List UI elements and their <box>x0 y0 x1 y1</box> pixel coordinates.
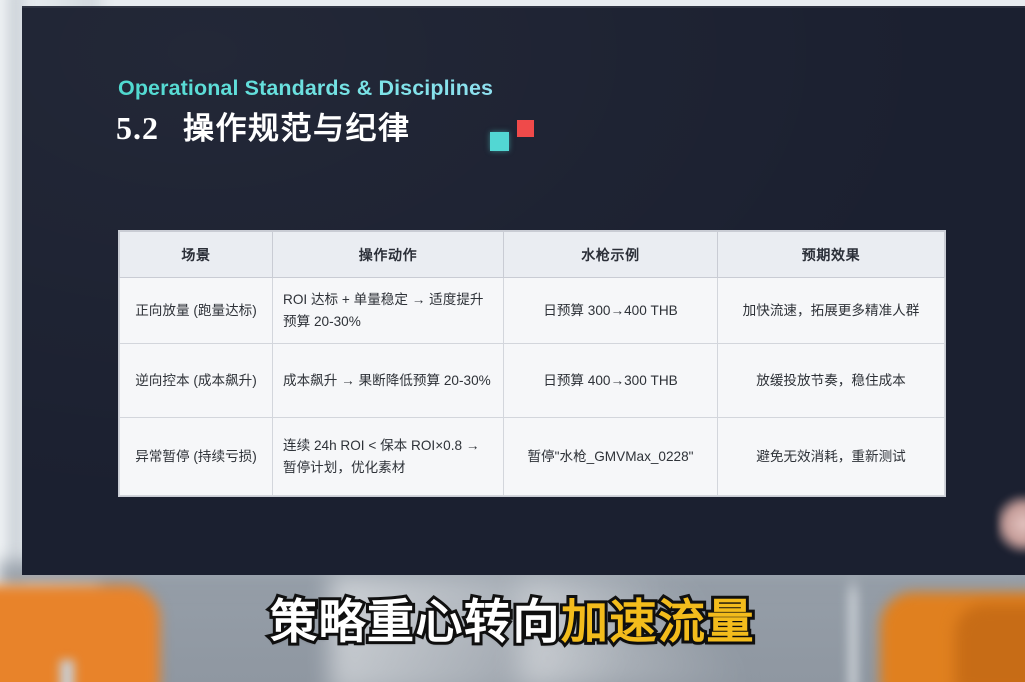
caption-highlight-text: 加速流量 <box>561 598 755 645</box>
operations-table: 场景 操作动作 水枪示例 预期效果 正向放量 (跑量达标) ROI 达标 + 单… <box>119 231 945 496</box>
cell-effect: 避免无效消耗，重新测试 <box>718 418 945 496</box>
slide-top-edge <box>22 6 1025 8</box>
decorative-square-red-icon <box>517 120 534 137</box>
column-header-action: 操作动作 <box>273 232 504 278</box>
section-number: 5.2 <box>116 112 159 144</box>
column-header-example: 水枪示例 <box>504 232 718 278</box>
caption-white-text: 策略重心转向 <box>270 598 561 645</box>
slide-eyebrow-title: Operational Standards & Disciplines <box>118 76 493 101</box>
video-subtitle-caption: 策略重心转向加速流量 <box>0 598 1025 645</box>
cell-action: 连续 24h ROI < 保本 ROI×0.8 → 暂停计划，优化素材 <box>273 418 504 496</box>
cell-scene: 正向放量 (跑量达标) <box>120 278 273 344</box>
cell-example: 日预算 300→400 THB <box>504 278 718 344</box>
column-header-scene: 场景 <box>120 232 273 278</box>
presentation-slide: Operational Standards & Disciplines 5.2 … <box>22 6 1025 575</box>
cell-scene: 逆向控本 (成本飙升) <box>120 344 273 418</box>
table-row: 异常暂停 (持续亏损) 连续 24h ROI < 保本 ROI×0.8 → 暂停… <box>120 418 945 496</box>
chair-leg-left <box>60 660 74 682</box>
table-row: 正向放量 (跑量达标) ROI 达标 + 单量稳定 → 适度提升预算 20-30… <box>120 278 945 344</box>
cell-effect: 加快流速，拓展更多精准人群 <box>718 278 945 344</box>
cell-action: ROI 达标 + 单量稳定 → 适度提升预算 20-30% <box>273 278 504 344</box>
cell-example: 日预算 400→300 THB <box>504 344 718 418</box>
cell-action: 成本飙升 → 果断降低预算 20-30% <box>273 344 504 418</box>
cell-example: 暂停"水枪_GMVMax_0228" <box>504 418 718 496</box>
column-header-effect: 预期效果 <box>718 232 945 278</box>
decorative-square-cyan-icon <box>490 132 509 151</box>
cell-effect: 放缓投放节奏，稳住成本 <box>718 344 945 418</box>
page-title: 操作规范与纪律 <box>183 113 411 144</box>
table-header-row: 场景 操作动作 水枪示例 预期效果 <box>120 232 945 278</box>
presenter-hand <box>997 494 1025 554</box>
slide-title-row: 5.2 操作规范与纪律 <box>116 112 411 144</box>
cell-scene: 异常暂停 (持续亏损) <box>120 418 273 496</box>
table-row: 逆向控本 (成本飙升) 成本飙升 → 果断降低预算 20-30% 日预算 400… <box>120 344 945 418</box>
